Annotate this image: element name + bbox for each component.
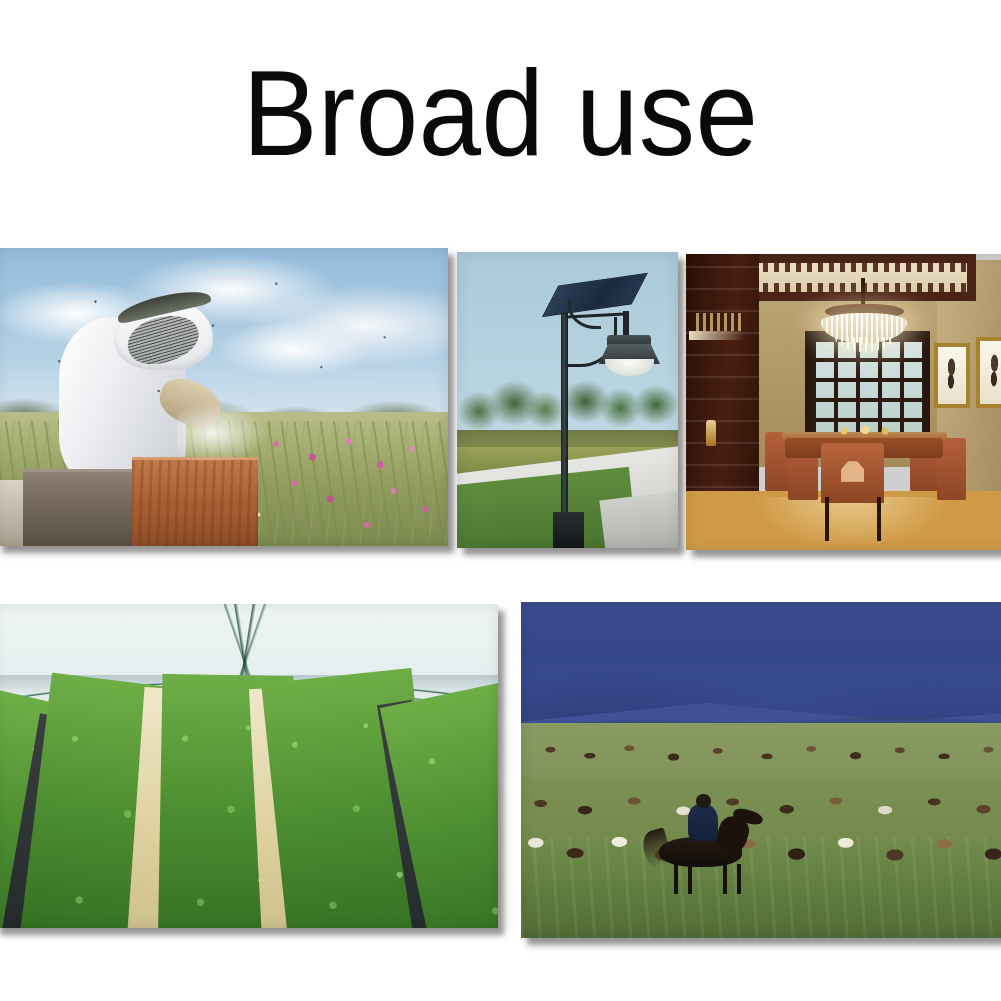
panel-inner-shadow <box>0 604 498 928</box>
beekeeping-scene <box>0 248 448 546</box>
panel-inner-shadow <box>521 602 1001 938</box>
use-case-image-dining-room <box>686 254 1001 550</box>
dining-room-scene <box>686 254 1001 550</box>
page-title: Broad use <box>40 52 961 174</box>
use-case-image-pasture <box>521 602 1001 938</box>
panel-inner-shadow <box>0 248 448 546</box>
use-case-image-beekeeping <box>0 248 448 546</box>
panel-inner-shadow <box>457 252 678 548</box>
use-case-image-greenhouse <box>0 604 498 928</box>
greenhouse-scene <box>0 604 498 928</box>
use-case-image-solar-street-light <box>457 252 678 548</box>
solar-street-light-scene <box>457 252 678 548</box>
pasture-scene <box>521 602 1001 938</box>
panel-inner-shadow <box>686 254 1001 550</box>
